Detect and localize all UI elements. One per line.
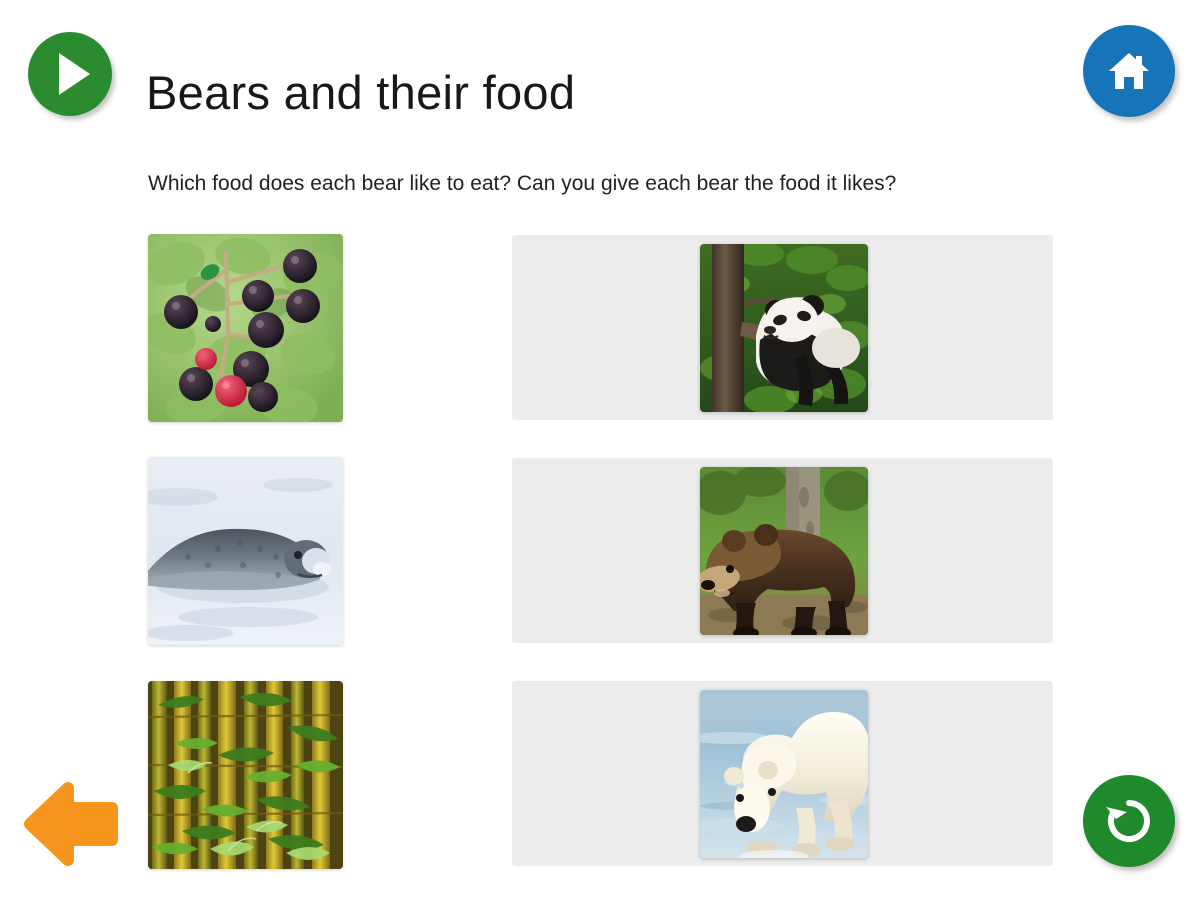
- play-audio-button[interactable]: [28, 32, 112, 116]
- instruction-text: Which food does each bear like to eat? C…: [148, 169, 1028, 199]
- back-arrow-icon: [18, 858, 122, 873]
- polar-bear-image: [700, 690, 868, 858]
- drop-zone-giant-panda[interactable]: [512, 235, 1053, 420]
- food-card-blackberries[interactable]: [148, 234, 343, 422]
- page-title: Bears and their food: [146, 67, 575, 119]
- food-card-bamboo[interactable]: [148, 681, 343, 869]
- reset-button[interactable]: [1083, 775, 1175, 867]
- bear-card-brown-bear[interactable]: [700, 467, 868, 635]
- brown-bear-image: [700, 467, 868, 635]
- bear-card-giant-panda[interactable]: [700, 244, 868, 412]
- back-button[interactable]: [18, 778, 122, 870]
- blackberries-image: [148, 234, 343, 422]
- home-button[interactable]: [1083, 25, 1175, 117]
- food-card-seal[interactable]: [148, 457, 343, 645]
- panda-image: [700, 244, 868, 412]
- bamboo-image: [148, 681, 343, 869]
- drop-zone-brown-bear[interactable]: [512, 458, 1053, 643]
- play-icon: [59, 53, 90, 95]
- drop-zone-polar-bear[interactable]: [512, 681, 1053, 866]
- seal-image: [148, 457, 343, 645]
- bear-card-polar-bear[interactable]: [700, 690, 868, 858]
